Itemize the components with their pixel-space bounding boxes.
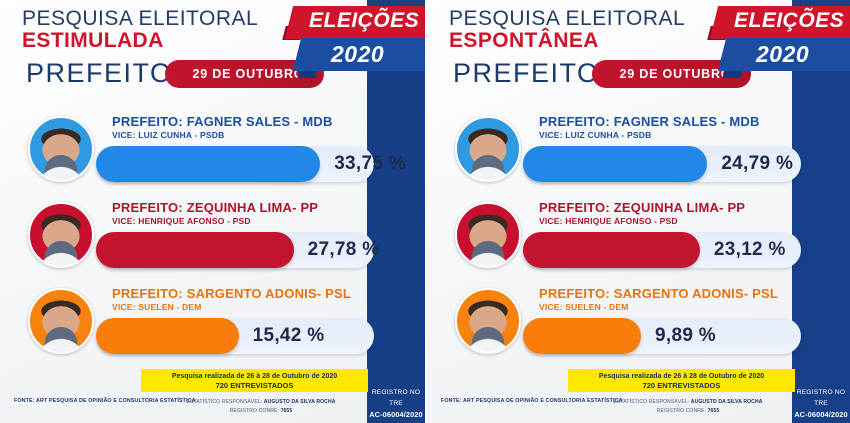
- percent-label: 23,12 %: [714, 239, 786, 261]
- respondents-count: 720 ENTREVISTADOS: [141, 381, 368, 391]
- percent-label: 33,75 %: [334, 153, 406, 175]
- office-label: PREFEITO: [453, 58, 600, 89]
- result-bar: 24,79 %: [523, 146, 801, 182]
- candidate-names: PREFEITO: FAGNER SALES - MDB VICE: LUIZ …: [112, 114, 333, 141]
- bar-fill: [96, 318, 239, 354]
- survey-period-text: Pesquisa realizada de 26 à 28 de Outubro…: [568, 372, 795, 381]
- bar-fill: [96, 146, 320, 182]
- result-bar: 33,75 %: [96, 146, 374, 182]
- result-bar: 15,42 %: [96, 318, 374, 354]
- panel-estimulada: PESQUISA ELEITORAL ESTIMULADA PREFEITO 2…: [0, 0, 425, 423]
- elections-badge: ELEIÇÕES 2020: [704, 4, 850, 76]
- avatar: [455, 288, 521, 354]
- bar-fill: [96, 232, 294, 268]
- candidate-names: PREFEITO: SARGENTO ADONIS- PSL VICE: SUE…: [112, 286, 351, 313]
- result-bar: 27,78 %: [96, 232, 374, 268]
- survey-type: ESTIMULADA: [22, 30, 258, 52]
- vice-name: VICE: SUELEN - DEM: [112, 302, 351, 313]
- candidate-row: PREFEITO: FAGNER SALES - MDB VICE: LUIZ …: [0, 108, 425, 194]
- candidate-name: PREFEITO: ZEQUINHA LIMA- PP: [539, 200, 745, 216]
- candidate-row: PREFEITO: ZEQUINHA LIMA- PP VICE: HENRIQ…: [0, 194, 425, 280]
- panel-espontanea: PESQUISA ELEITORAL ESPONTÂNEA PREFEITO 2…: [425, 0, 850, 423]
- survey-type: ESPONTÂNEA: [449, 30, 685, 52]
- conre-value: 7655: [281, 408, 293, 414]
- result-bar: 9,89 %: [523, 318, 801, 354]
- elections-badge: ELEIÇÕES 2020: [279, 4, 425, 76]
- candidate-name: PREFEITO: SARGENTO ADONIS- PSL: [539, 286, 778, 302]
- footer-credits: FONTE: ART PESQUISA DE OPINIÃO E CONSULT…: [0, 396, 367, 423]
- vice-name: VICE: HENRIQUE AFONSO - PSD: [112, 216, 318, 227]
- statistician-label: ESTATÍSTICO RESPONSÁVEL:: [613, 399, 689, 405]
- source-text: FONTE: ART PESQUISA DE OPINIÃO E CONSULT…: [441, 398, 623, 404]
- header-title-block: PESQUISA ELEITORAL ESPONTÂNEA: [449, 8, 685, 52]
- avatar: [28, 116, 94, 182]
- percent-label: 27,78 %: [308, 239, 380, 261]
- statistician-name: AUGUSTO DA SILVA ROCHA: [264, 399, 336, 405]
- office-label: PREFEITO: [26, 58, 173, 89]
- conre-label: REGISTRO CONRE:: [657, 408, 706, 414]
- badge-label-eleicoes: ELEIÇÕES: [734, 9, 844, 33]
- vice-name: VICE: LUIZ CUNHA - PSDB: [539, 130, 760, 141]
- candidate-list: PREFEITO: FAGNER SALES - MDB VICE: LUIZ …: [427, 108, 850, 366]
- candidate-row: PREFEITO: ZEQUINHA LIMA- PP VICE: HENRIQ…: [427, 194, 850, 280]
- candidate-names: PREFEITO: ZEQUINHA LIMA- PP VICE: HENRIQ…: [112, 200, 318, 227]
- tre-label: REGISTRO NO TRE: [367, 388, 425, 409]
- header-title-block: PESQUISA ELEITORAL ESTIMULADA: [22, 8, 258, 52]
- tre-value: AC-06004/2020: [367, 409, 425, 420]
- badge-label-year: 2020: [331, 41, 384, 68]
- survey-period-banner: Pesquisa realizada de 26 à 28 de Outubro…: [568, 369, 795, 392]
- tre-label: REGISTRO NO TRE: [792, 388, 850, 409]
- panel-header: PESQUISA ELEITORAL ESPONTÂNEA PREFEITO 2…: [427, 0, 850, 108]
- footer-credits: FONTE: ART PESQUISA DE OPINIÃO E CONSULT…: [427, 396, 794, 423]
- respondents-count: 720 ENTREVISTADOS: [568, 381, 795, 391]
- candidate-names: PREFEITO: ZEQUINHA LIMA- PP VICE: HENRIQ…: [539, 200, 745, 227]
- statistician-block: ESTATÍSTICO RESPONSÁVEL: AUGUSTO DA SILV…: [186, 398, 336, 415]
- candidate-name: PREFEITO: FAGNER SALES - MDB: [539, 114, 760, 130]
- badge-label-eleicoes: ELEIÇÕES: [309, 9, 419, 33]
- tre-registration: REGISTRO NO TRE AC-06004/2020: [792, 388, 850, 420]
- avatar: [455, 202, 521, 268]
- conre-value: 7655: [708, 408, 720, 414]
- statistician-name: AUGUSTO DA SILVA ROCHA: [691, 399, 763, 405]
- poll-infographic: PESQUISA ELEITORAL ESTIMULADA PREFEITO 2…: [0, 0, 850, 423]
- candidate-names: PREFEITO: FAGNER SALES - MDB VICE: LUIZ …: [539, 114, 760, 141]
- statistician-label: ESTATÍSTICO RESPONSÁVEL:: [186, 399, 262, 405]
- survey-period-text: Pesquisa realizada de 26 à 28 de Outubro…: [141, 372, 368, 381]
- candidate-name: PREFEITO: FAGNER SALES - MDB: [112, 114, 333, 130]
- percent-label: 24,79 %: [721, 153, 793, 175]
- bar-fill: [523, 146, 707, 182]
- candidate-row: PREFEITO: FAGNER SALES - MDB VICE: LUIZ …: [427, 108, 850, 194]
- avatar: [28, 288, 94, 354]
- candidate-row: PREFEITO: SARGENTO ADONIS- PSL VICE: SUE…: [0, 280, 425, 366]
- vice-name: VICE: SUELEN - DEM: [539, 302, 778, 313]
- candidate-row: PREFEITO: SARGENTO ADONIS- PSL VICE: SUE…: [427, 280, 850, 366]
- vice-name: VICE: LUIZ CUNHA - PSDB: [112, 130, 333, 141]
- conre-label: REGISTRO CONRE:: [230, 408, 279, 414]
- candidate-name: PREFEITO: SARGENTO ADONIS- PSL: [112, 286, 351, 302]
- candidate-names: PREFEITO: SARGENTO ADONIS- PSL VICE: SUE…: [539, 286, 778, 313]
- source-text: FONTE: ART PESQUISA DE OPINIÃO E CONSULT…: [14, 398, 196, 404]
- percent-label: 9,89 %: [655, 325, 716, 347]
- panel-header: PESQUISA ELEITORAL ESTIMULADA PREFEITO 2…: [0, 0, 425, 108]
- vice-name: VICE: HENRIQUE AFONSO - PSD: [539, 216, 745, 227]
- tre-registration: REGISTRO NO TRE AC-06004/2020: [367, 388, 425, 420]
- candidate-list: PREFEITO: FAGNER SALES - MDB VICE: LUIZ …: [0, 108, 425, 366]
- avatar: [455, 116, 521, 182]
- survey-kicker: PESQUISA ELEITORAL: [449, 8, 685, 30]
- bar-fill: [523, 318, 641, 354]
- avatar: [28, 202, 94, 268]
- badge-label-year: 2020: [756, 41, 809, 68]
- tre-value: AC-06004/2020: [792, 409, 850, 420]
- percent-label: 15,42 %: [253, 325, 325, 347]
- result-bar: 23,12 %: [523, 232, 801, 268]
- survey-period-banner: Pesquisa realizada de 26 à 28 de Outubro…: [141, 369, 368, 392]
- candidate-name: PREFEITO: ZEQUINHA LIMA- PP: [112, 200, 318, 216]
- survey-kicker: PESQUISA ELEITORAL: [22, 8, 258, 30]
- statistician-block: ESTATÍSTICO RESPONSÁVEL: AUGUSTO DA SILV…: [613, 398, 763, 415]
- bar-fill: [523, 232, 700, 268]
